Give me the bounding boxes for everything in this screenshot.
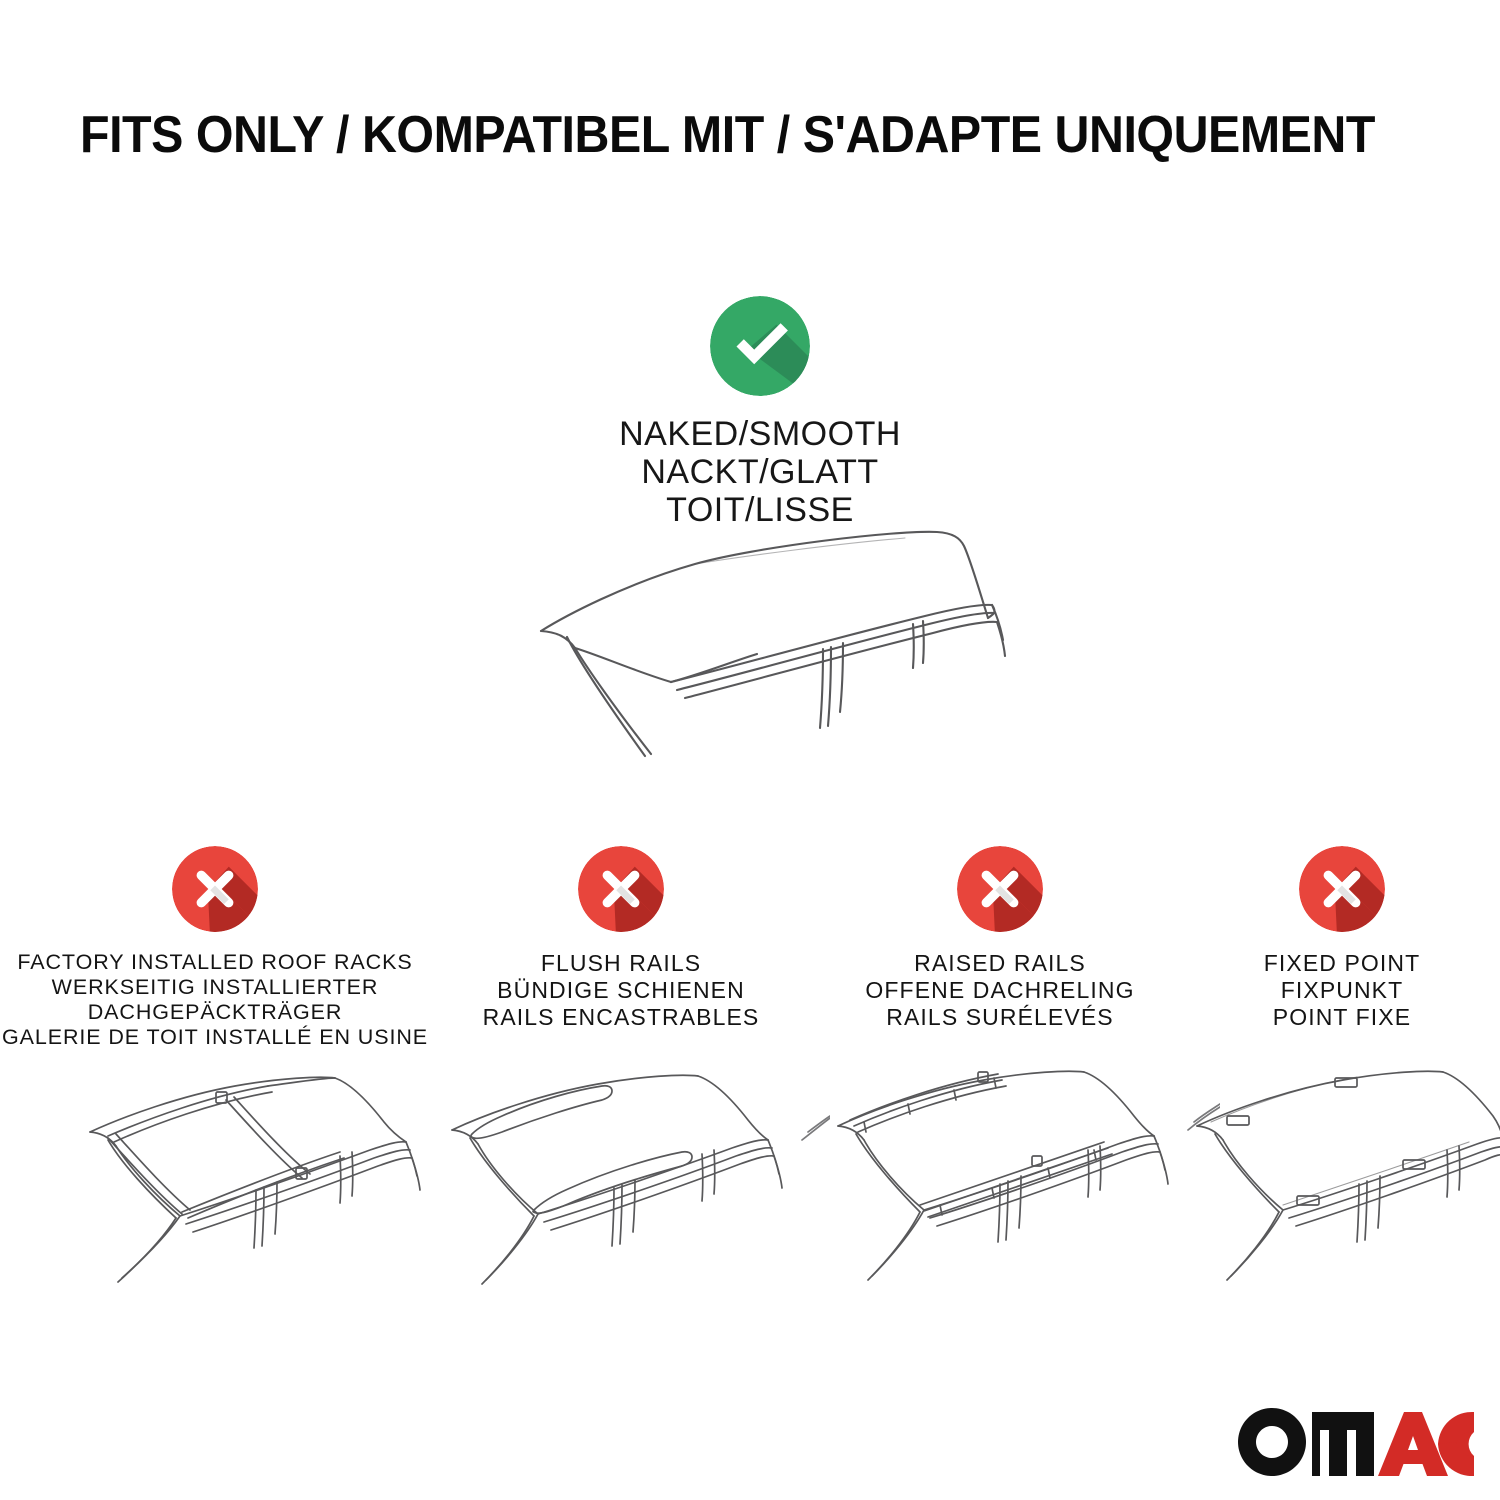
incompatible-labels: FACTORY INSTALLED ROOF RACKS WERKSEITIG … <box>0 950 430 1050</box>
incompatible-label-de: OFFENE DACHRELING <box>810 977 1190 1004</box>
omac-logo <box>1238 1404 1474 1480</box>
compatible-label-en: NAKED/SMOOTH <box>520 415 1000 453</box>
incompatible-label-fr: RAILS SURÉLEVÉS <box>810 1004 1190 1031</box>
incompatible-labels: RAISED RAILS OFFENE DACHRELING RAILS SUR… <box>810 950 1190 1031</box>
page-title: FITS ONLY / KOMPATIBEL MIT / S'ADAPTE UN… <box>80 104 1345 166</box>
incompatible-column-fixed-point: FIXED POINT FIXPUNKT POINT FIXE <box>1192 846 1492 1031</box>
incompatible-labels: FLUSH RAILS BÜNDIGE SCHIENEN RAILS ENCAS… <box>432 950 810 1031</box>
incompatible-label-de-1: WERKSEITIG INSTALLIERTER <box>0 975 430 1000</box>
incompatible-label-en: RAISED RAILS <box>810 950 1190 977</box>
incompatible-label-de-2: DACHGEPÄCKTRÄGER <box>0 1000 430 1025</box>
car-roof-factory-racks-illustration <box>30 1060 440 1290</box>
compatible-labels: NAKED/SMOOTH NACKT/GLATT TOIT/LISSE <box>520 415 1000 529</box>
car-roof-naked-smooth-illustration <box>505 516 1015 796</box>
car-roof-fixed-point-illustration <box>1185 1060 1500 1290</box>
incompatible-column-raised-rails: RAISED RAILS OFFENE DACHRELING RAILS SUR… <box>810 846 1190 1031</box>
incompatible-column-factory-racks: FACTORY INSTALLED ROOF RACKS WERKSEITIG … <box>0 846 430 1050</box>
incompatible-label-fr: RAILS ENCASTRABLES <box>432 1004 810 1031</box>
incompatible-column-flush-rails: FLUSH RAILS BÜNDIGE SCHIENEN RAILS ENCAS… <box>432 846 810 1031</box>
incompatible-label-en: FLUSH RAILS <box>432 950 810 977</box>
incompatible-label-fr: GALERIE DE TOIT INSTALLÉ EN USINE <box>0 1025 430 1050</box>
incompatible-roof-types: FACTORY INSTALLED ROOF RACKS WERKSEITIG … <box>0 846 1500 1066</box>
car-roof-flush-rails-illustration <box>430 1060 830 1290</box>
red-x-icon <box>578 846 664 932</box>
compatible-label-de: NACKT/GLATT <box>520 453 1000 491</box>
red-x-icon <box>172 846 258 932</box>
incompatible-label-en: FIXED POINT <box>1192 950 1492 977</box>
incompatible-labels: FIXED POINT FIXPUNKT POINT FIXE <box>1192 950 1492 1031</box>
car-roof-raised-rails-illustration <box>820 1060 1220 1290</box>
incompatible-label-de: BÜNDIGE SCHIENEN <box>432 977 810 1004</box>
red-x-icon <box>957 846 1043 932</box>
green-check-icon <box>710 296 810 396</box>
incompatible-label-de: FIXPUNKT <box>1192 977 1492 1004</box>
incompatible-label-fr: POINT FIXE <box>1192 1004 1492 1031</box>
red-x-icon <box>1299 846 1385 932</box>
compatible-roof-type: NAKED/SMOOTH NACKT/GLATT TOIT/LISSE <box>520 296 1000 529</box>
incompatible-label-en: FACTORY INSTALLED ROOF RACKS <box>0 950 430 975</box>
